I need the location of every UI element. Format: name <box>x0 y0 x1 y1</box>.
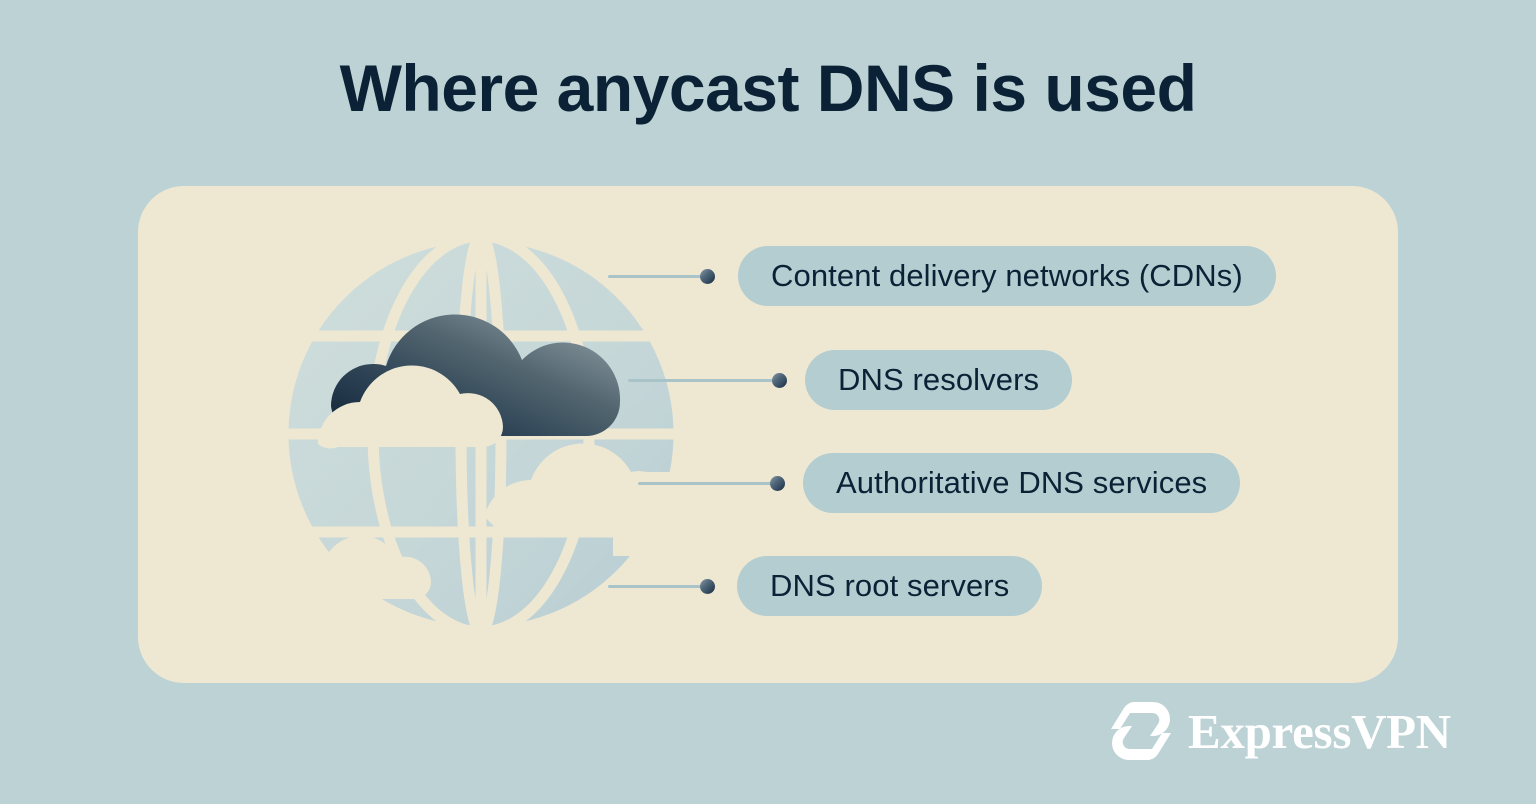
connector-line-1 <box>608 275 708 278</box>
label-pill-text: Authoritative DNS services <box>836 465 1207 501</box>
label-pill-text: Content delivery networks (CDNs) <box>771 258 1243 294</box>
connector-line-4 <box>608 585 708 588</box>
label-pill-dns-root-servers[interactable]: DNS root servers <box>737 556 1042 616</box>
connector-line-3 <box>638 482 776 485</box>
connector-node-1 <box>700 269 715 284</box>
label-pill-dns-resolvers[interactable]: DNS resolvers <box>805 350 1072 410</box>
infographic-card: Content delivery networks (CDNs) DNS res… <box>138 186 1398 683</box>
globe-illustration <box>283 228 683 640</box>
connector-node-3 <box>770 476 785 491</box>
page-title: Where anycast DNS is used <box>0 52 1536 125</box>
label-pill-authoritative-dns-services[interactable]: Authoritative DNS services <box>803 453 1240 513</box>
label-pill-content-delivery-networks[interactable]: Content delivery networks (CDNs) <box>738 246 1276 306</box>
label-pill-text: DNS resolvers <box>838 362 1039 398</box>
connector-node-2 <box>772 373 787 388</box>
connector-node-4 <box>700 579 715 594</box>
brand-logo: ExpressVPN <box>1108 700 1451 762</box>
connector-line-2 <box>628 379 778 382</box>
label-pill-text: DNS root servers <box>770 568 1009 604</box>
brand-name: ExpressVPN <box>1188 707 1451 756</box>
expressvpn-e-mark-icon <box>1108 700 1174 762</box>
globe-svg <box>283 228 683 640</box>
